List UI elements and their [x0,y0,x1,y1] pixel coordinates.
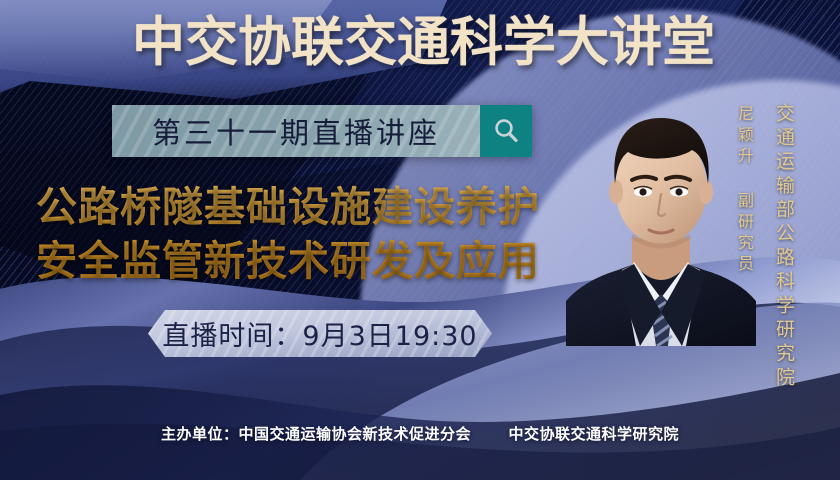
headline-line-1: 公路桥隧基础设施建设养护 [36,180,540,234]
speaker-portrait [566,88,756,418]
episode-label-container: 第三十一期直播讲座 [112,105,480,157]
footer: 主办单位：中国交通运输协会新技术促进分会 中交协联交通科学研究院 [0,423,840,444]
broadcast-time-label: 直播时间：9月3日19:30 [162,314,477,353]
footer-co-organizer: 中交协联交通科学研究院 [508,425,679,443]
speaker-name-title: 尼颖升 副研究员 [732,105,756,276]
footer-organizer: 主办单位：中国交通运输协会新技术促进分会 [161,425,471,443]
search-icon[interactable] [480,105,532,157]
speaker-organization: 交通运输部公路科学研究院 [771,103,798,391]
headline-line-2: 安全监管新技术研发及应用 [36,234,540,288]
broadcast-time-badge: 直播时间：9月3日19:30 [148,310,492,357]
lecture-headline: 公路桥隧基础设施建设养护 安全监管新技术研发及应用 [36,180,540,288]
live-lecture-poster: 中交协联交通科学大讲堂 第三十一期直播讲座 公路桥隧基础设施建设养护 安全监管新… [0,0,840,480]
episode-label: 第三十一期直播讲座 [152,110,440,152]
page-title: 中交协联交通科学大讲堂 [132,16,715,69]
episode-banner: 第三十一期直播讲座 [112,105,532,157]
